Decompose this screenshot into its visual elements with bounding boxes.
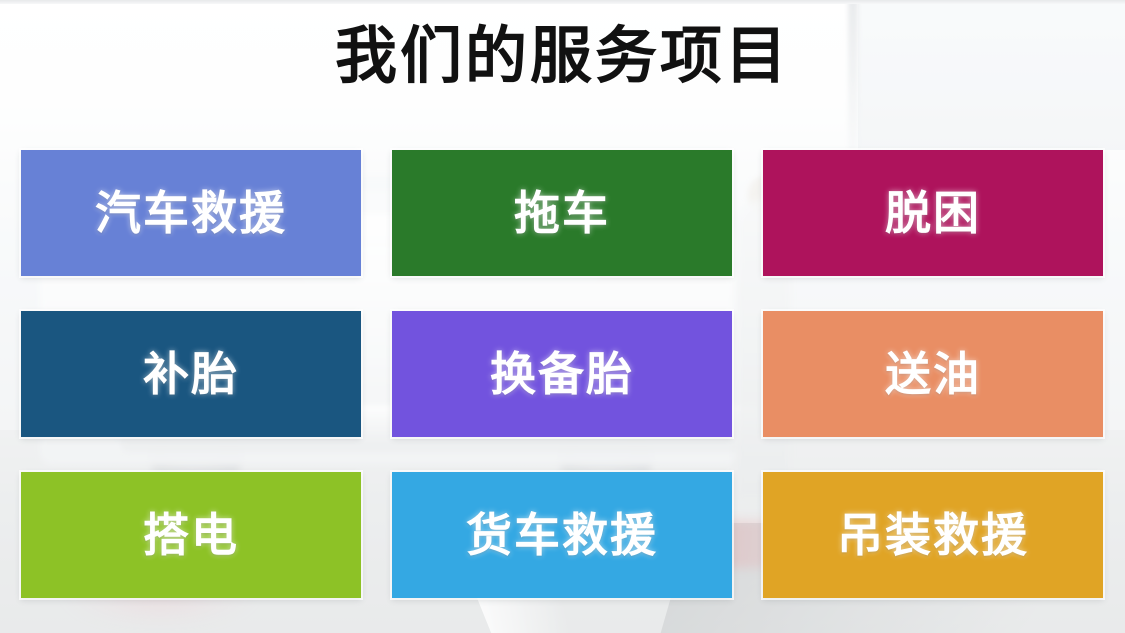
service-tile-label: 汽车救援 bbox=[95, 190, 287, 236]
service-tile-label: 补胎 bbox=[143, 351, 239, 397]
service-poster: 我们的服务项目 汽车救援 拖车 脱困 补胎 换备胎 送油 搭电 bbox=[0, 0, 1125, 633]
service-tile-crane-hoist-rescue[interactable]: 吊装救援 bbox=[763, 472, 1103, 598]
service-tile-fuel-delivery[interactable]: 送油 bbox=[763, 311, 1103, 437]
service-tile-jump-start[interactable]: 搭电 bbox=[21, 472, 361, 598]
page-title: 我们的服务项目 bbox=[0, 22, 1125, 90]
service-tile-label: 拖车 bbox=[514, 190, 610, 236]
poster-content: 我们的服务项目 汽车救援 拖车 脱困 补胎 换备胎 送油 搭电 bbox=[0, 0, 1125, 633]
service-tile-label: 换备胎 bbox=[490, 351, 634, 397]
service-tile-spare-tire-change[interactable]: 换备胎 bbox=[392, 311, 732, 437]
service-tile-towing[interactable]: 拖车 bbox=[392, 150, 732, 276]
service-tile-label: 货车救援 bbox=[466, 512, 658, 558]
service-tile-label: 送油 bbox=[885, 351, 981, 397]
service-tile-grid: 汽车救援 拖车 脱困 补胎 换备胎 送油 搭电 货车救援 bbox=[21, 150, 1103, 598]
service-tile-car-rescue[interactable]: 汽车救援 bbox=[21, 150, 361, 276]
service-tile-label: 脱困 bbox=[885, 190, 981, 236]
service-tile-truck-rescue[interactable]: 货车救援 bbox=[392, 472, 732, 598]
service-tile-label: 搭电 bbox=[143, 512, 239, 558]
service-tile-extraction[interactable]: 脱困 bbox=[763, 150, 1103, 276]
service-tile-tire-repair[interactable]: 补胎 bbox=[21, 311, 361, 437]
service-tile-label: 吊装救援 bbox=[837, 512, 1029, 558]
